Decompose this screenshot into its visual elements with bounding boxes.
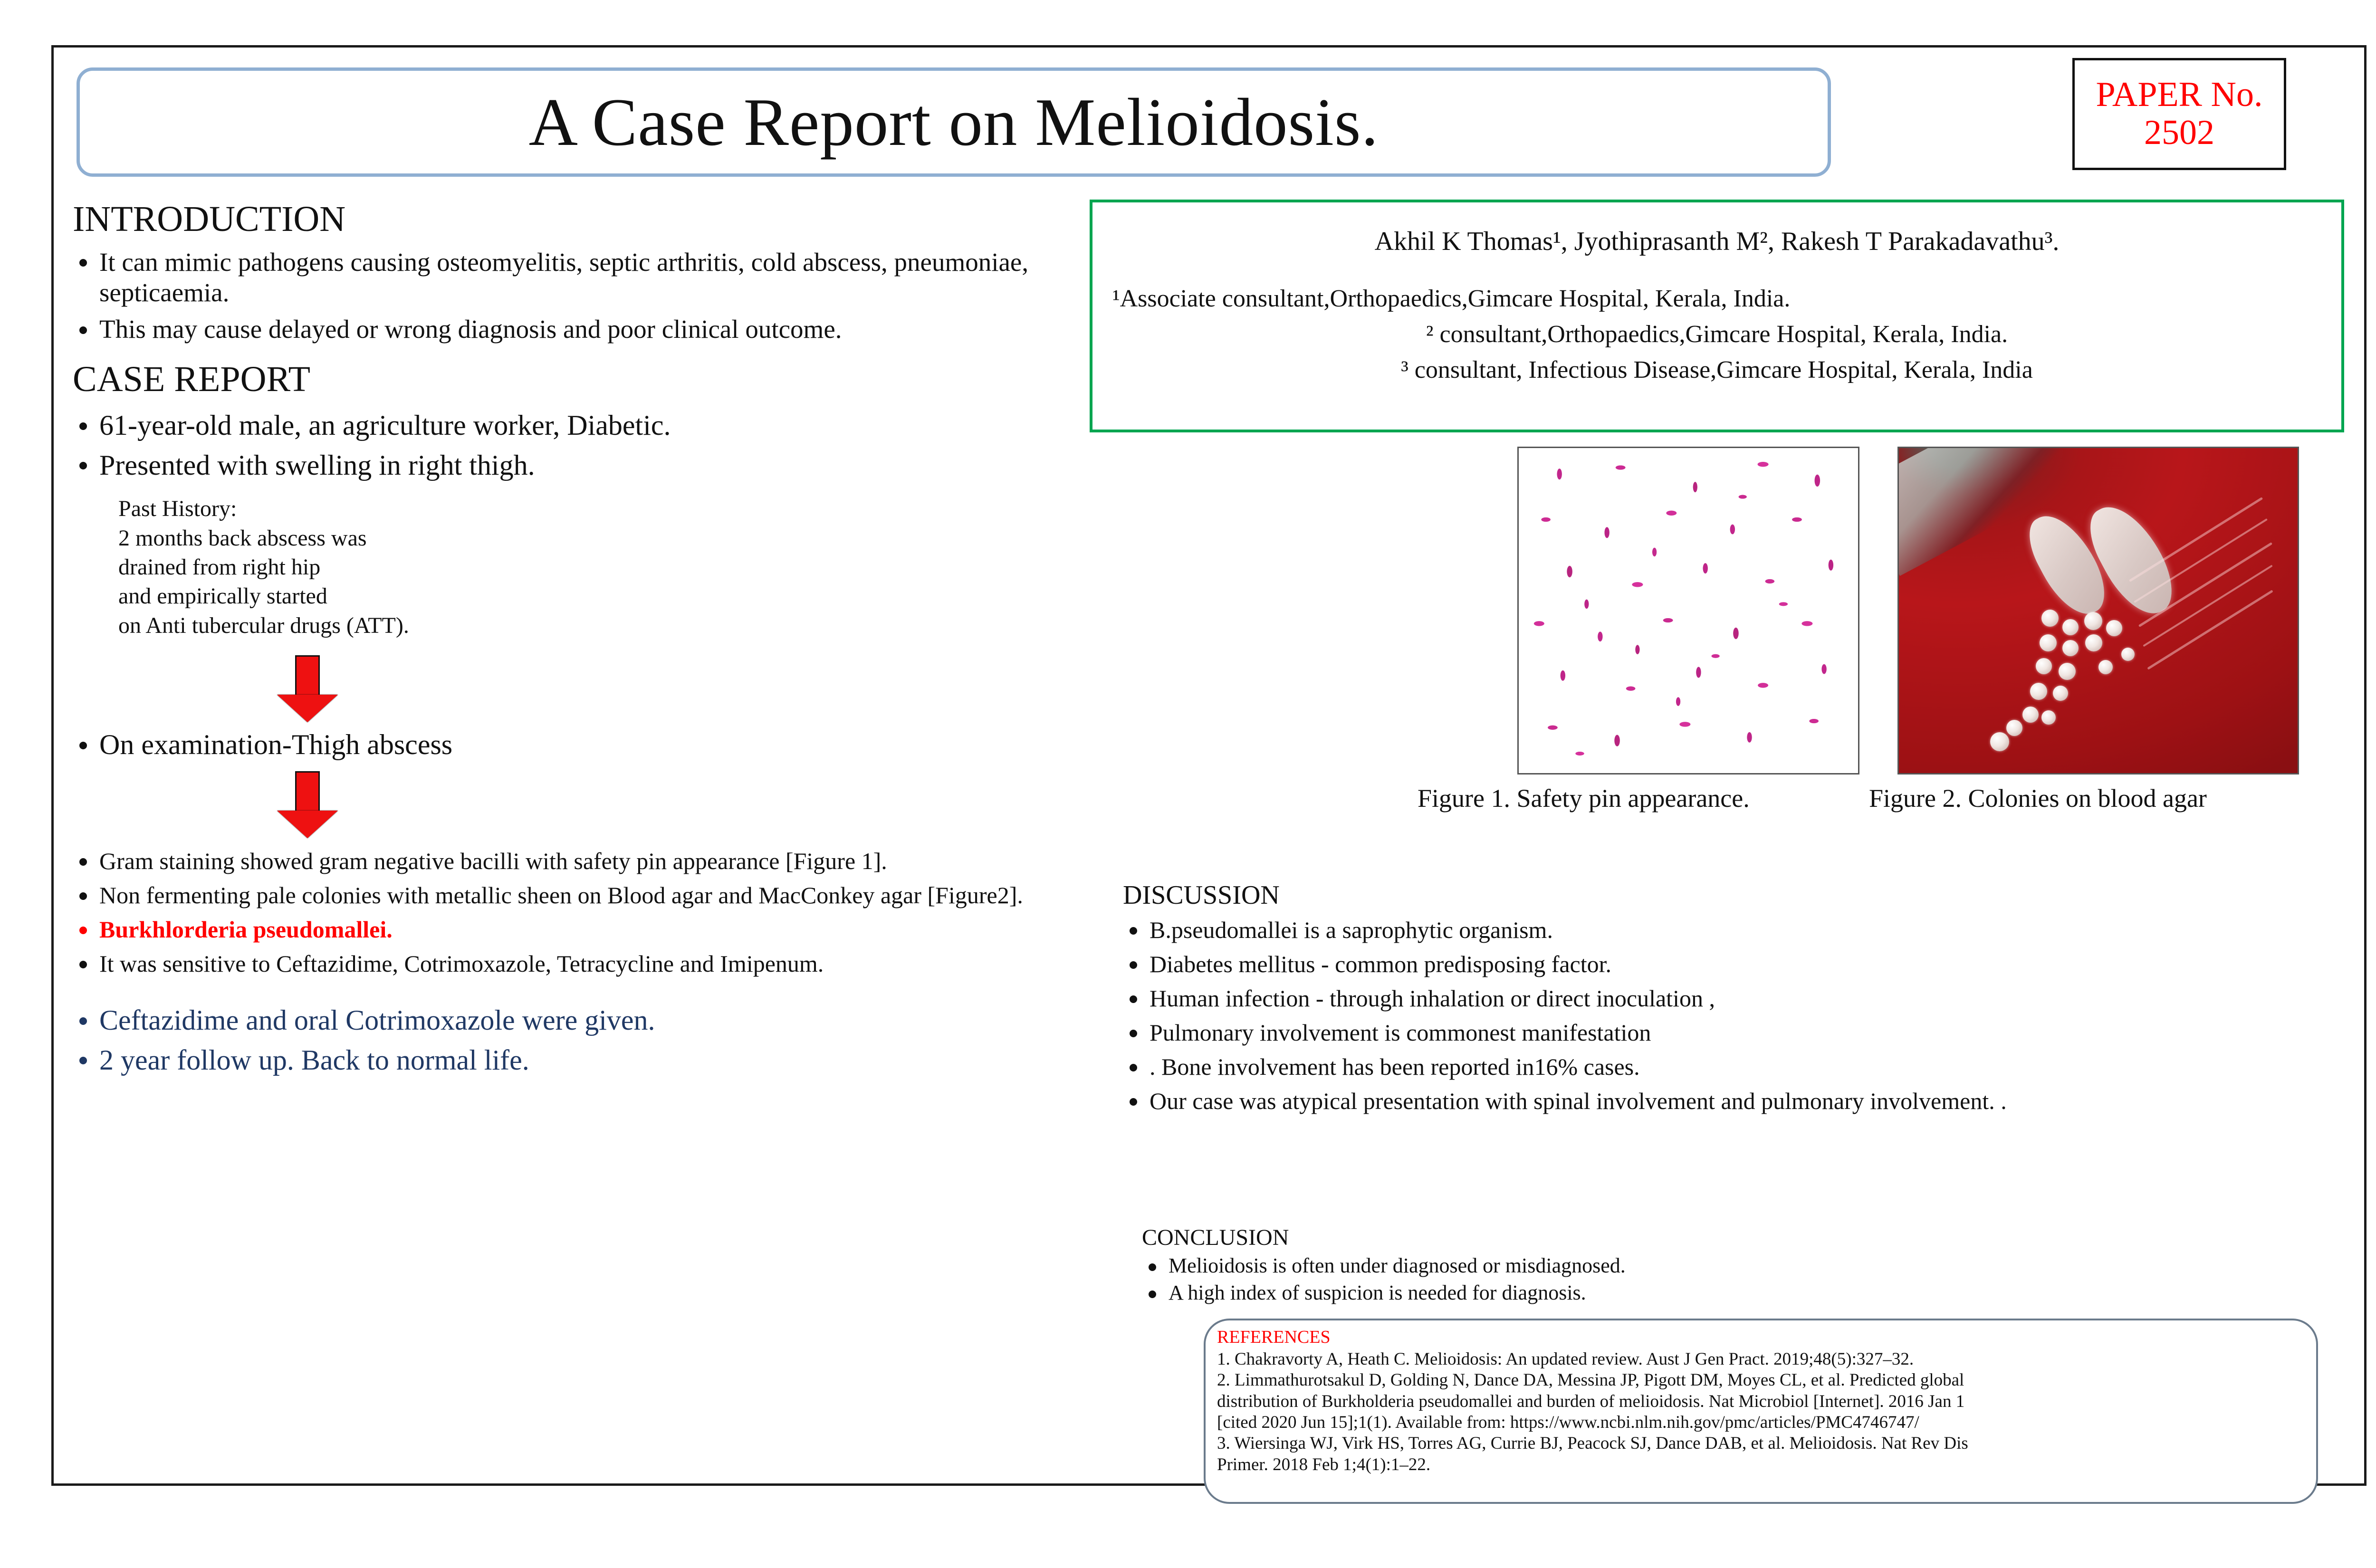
discussion-bullet-4: Pulmonary involvement is commonest manif… (1150, 1019, 1651, 1046)
list-item: Diabetes mellitus - common predisposing … (1123, 950, 2339, 978)
reference-line-3: distribution of Burkholderia pseudomalle… (1217, 1391, 2305, 1412)
finding-gram-stain: Gram staining showed gram negative bacil… (99, 848, 887, 874)
list-item: Our case was atypical presentation with … (1123, 1087, 2339, 1115)
paper-number-box: PAPER No. 2502 (2072, 58, 2286, 170)
examination-text: On examination-Thigh abscess (99, 729, 452, 760)
discussion-bullet-2: Diabetes mellitus - common predisposing … (1150, 951, 1611, 977)
figure-1-caption: Figure 1. Safety pin appearance. (1418, 785, 1750, 812)
reference-line-2: 2. Limmathurotsakul D, Golding N, Dance … (1217, 1370, 2305, 1391)
conclusion-bullet-1: Melioidosis is often under diagnosed or … (1169, 1254, 1626, 1277)
flow-arrow-2-wrap (73, 768, 1080, 840)
affiliation-2: ² consultant,Orthopaedics,Gimcare Hospit… (1107, 320, 2327, 349)
case-report-list: 61-year-old male, an agriculture worker,… (73, 409, 1080, 482)
finding-sensitivity: It was sensitive to Ceftazidime, Cotrimo… (99, 950, 824, 977)
outcome-list: Ceftazidime and oral Cotrimoxazole were … (73, 1004, 1080, 1077)
down-arrow-icon (277, 655, 338, 722)
reference-line-5: 3. Wiersinga WJ, Virk HS, Torres AG, Cur… (1217, 1433, 2305, 1454)
findings-list: Gram staining showed gram negative bacil… (73, 847, 1080, 977)
affiliation-1: ¹Associate consultant,Orthopaedics,Gimca… (1107, 284, 2327, 313)
list-item: . Bone involvement has been reported in1… (1123, 1053, 2339, 1080)
conclusion-bullet-2: A high index of suspicion is needed for … (1169, 1281, 1586, 1304)
case-report-heading: CASE REPORT (73, 361, 1080, 399)
figure-1-gram-stain-image (1517, 447, 1859, 774)
conclusion-list: Melioidosis is often under diagnosed or … (1142, 1253, 2330, 1305)
discussion-bullet-5: . Bone involvement has been reported in1… (1150, 1053, 1640, 1080)
author-affiliation-box: Akhil K Thomas¹, Jyothiprasanth M², Rake… (1090, 200, 2344, 432)
poster-canvas: A Case Report on Melioidosis. PAPER No. … (51, 45, 2366, 1486)
conclusion-heading: CONCLUSION (1142, 1226, 2330, 1250)
discussion-bullet-6: Our case was atypical presentation with … (1150, 1088, 2007, 1114)
conclusion-section: CONCLUSION Melioidosis is often under di… (1142, 1226, 2330, 1308)
outcome-followup: 2 year follow up. Back to normal life. (99, 1044, 529, 1076)
page-title: A Case Report on Melioidosis. (529, 88, 1379, 156)
figure-2-blood-agar-image (1897, 447, 2299, 774)
list-item: Ceftazidime and oral Cotrimoxazole were … (73, 1004, 1080, 1037)
list-item: It was sensitive to Ceftazidime, Cotrimo… (73, 950, 1080, 977)
past-history-block: Past History: 2 months back abscess was … (118, 494, 1080, 640)
paper-number-label: PAPER No. (2096, 76, 2263, 114)
affiliation-3: ³ consultant, Infectious Disease,Gimcare… (1107, 355, 2327, 384)
discussion-heading: DISCUSSION (1123, 881, 2339, 909)
past-history-line-3: drained from right hip (118, 553, 1080, 582)
introduction-bullet-1: It can mimic pathogens causing osteomyel… (99, 248, 1028, 307)
list-item: Non fermenting pale colonies with metall… (73, 881, 1080, 909)
down-arrow-icon (277, 771, 338, 838)
past-history-line-1: Past History: (118, 494, 1080, 523)
list-item: B.pseudomallei is a saprophytic organism… (1123, 916, 2339, 944)
introduction-list: It can mimic pathogens causing osteomyel… (73, 247, 1080, 344)
list-item: Human infection - through inhalation or … (1123, 985, 2339, 1012)
references-box: REFERENCES 1. Chakravorty A, Heath C. Me… (1204, 1319, 2318, 1504)
list-item: It can mimic pathogens causing osteomyel… (73, 247, 1080, 308)
figure-2-caption: Figure 2. Colonies on blood agar (1869, 785, 2207, 812)
reference-line-4: [cited 2020 Jun 15];1(1). Available from… (1217, 1412, 2305, 1433)
list-item: Melioidosis is often under diagnosed or … (1142, 1253, 2330, 1278)
past-history-line-5: on Anti tubercular drugs (ATT). (118, 611, 1080, 640)
finding-organism: Burkhlorderia pseudomallei. (99, 916, 393, 943)
discussion-bullet-3: Human infection - through inhalation or … (1150, 985, 1715, 1012)
introduction-heading: INTRODUCTION (73, 201, 1080, 239)
paper-number-value: 2502 (2144, 114, 2214, 152)
examination-list: On examination-Thigh abscess (73, 728, 1080, 762)
case-bullet-1: 61-year-old male, an agriculture worker,… (99, 410, 671, 441)
left-column: INTRODUCTION It can mimic pathogens caus… (73, 201, 1080, 1083)
discussion-bullet-1: B.pseudomallei is a saprophytic organism… (1150, 917, 1553, 943)
discussion-section: DISCUSSION B.pseudomallei is a saprophyt… (1123, 881, 2339, 1121)
list-item: Pulmonary involvement is commonest manif… (1123, 1019, 2339, 1046)
list-item: On examination-Thigh abscess (73, 728, 1080, 762)
author-names: Akhil K Thomas¹, Jyothiprasanth M², Rake… (1107, 227, 2327, 257)
reference-line-6: Primer. 2018 Feb 1;4(1):1–22. (1217, 1454, 2305, 1475)
list-item: 61-year-old male, an agriculture worker,… (73, 409, 1080, 442)
outcome-treatment: Ceftazidime and oral Cotrimoxazole were … (99, 1004, 655, 1036)
list-item: This may cause delayed or wrong diagnosi… (73, 314, 1080, 344)
past-history-line-2: 2 months back abscess was (118, 524, 1080, 553)
references-heading: REFERENCES (1217, 1328, 2305, 1347)
list-item: Presented with swelling in right thigh. (73, 449, 1080, 482)
introduction-bullet-2: This may cause delayed or wrong diagnosi… (99, 315, 842, 344)
past-history-line-4: and empirically started (118, 582, 1080, 611)
finding-colonies: Non fermenting pale colonies with metall… (99, 882, 1023, 908)
list-item: A high index of suspicion is needed for … (1142, 1281, 2330, 1305)
list-item: Gram staining showed gram negative bacil… (73, 847, 1080, 875)
poster-header: A Case Report on Melioidosis. PAPER No. … (54, 48, 2364, 204)
reference-line-1: 1. Chakravorty A, Heath C. Melioidosis: … (1217, 1349, 2305, 1370)
figures-region: Figure 1. Safety pin appearance. Figure … (1090, 447, 2344, 779)
title-box: A Case Report on Melioidosis. (77, 67, 1831, 177)
list-item: Burkhlorderia pseudomallei. (73, 916, 1080, 943)
list-item: 2 year follow up. Back to normal life. (73, 1044, 1080, 1077)
discussion-list: B.pseudomallei is a saprophytic organism… (1123, 916, 2339, 1115)
case-bullet-2: Presented with swelling in right thigh. (99, 449, 535, 481)
flow-arrow-1-wrap (73, 652, 1080, 724)
